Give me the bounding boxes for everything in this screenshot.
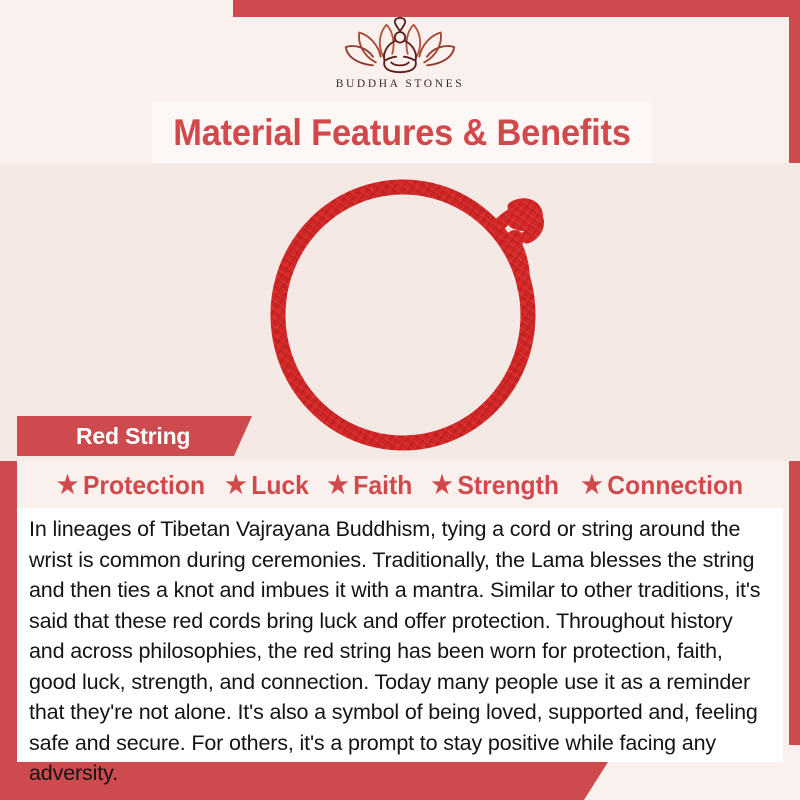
benefit-item: ★ Protection (50, 470, 212, 501)
star-icon: ★ (57, 473, 78, 498)
product-name-label: Red String (76, 423, 190, 450)
benefit-label: Protection (83, 470, 205, 501)
product-name-banner: Red String (17, 416, 252, 456)
lotus-meditation-icon (342, 17, 458, 77)
benefit-item: ★ Faith (321, 470, 419, 501)
star-icon: ★ (327, 473, 348, 498)
benefit-label: Luck (251, 470, 309, 501)
benefit-item: ★ Connection (574, 470, 749, 501)
frame-top-bar (233, 0, 800, 17)
brand-name: BUDDHA STONES (336, 78, 464, 90)
benefit-item: ★ Strength (425, 470, 566, 501)
benefit-label: Strength (458, 470, 560, 501)
page-title: Material Features & Benefits (173, 112, 631, 154)
infographic-card: BUDDHA STONES Material Features & Benefi… (0, 0, 800, 800)
star-icon: ★ (581, 473, 602, 498)
star-icon: ★ (432, 473, 453, 498)
benefits-list: ★ Protection ★ Luck ★ Faith ★ Strength ★… (0, 463, 800, 508)
description-panel: In lineages of Tibetan Vajrayana Buddhis… (17, 508, 783, 762)
red-string-bracelet-image (251, 163, 581, 461)
title-band: Material Features & Benefits (152, 102, 652, 163)
description-text: In lineages of Tibetan Vajrayana Buddhis… (29, 514, 771, 789)
star-icon: ★ (225, 473, 246, 498)
benefit-label: Faith (353, 470, 412, 501)
benefit-item: ★ Luck (218, 470, 315, 501)
brand-logo: BUDDHA STONES (0, 17, 800, 101)
benefit-label: Connection (607, 470, 743, 501)
